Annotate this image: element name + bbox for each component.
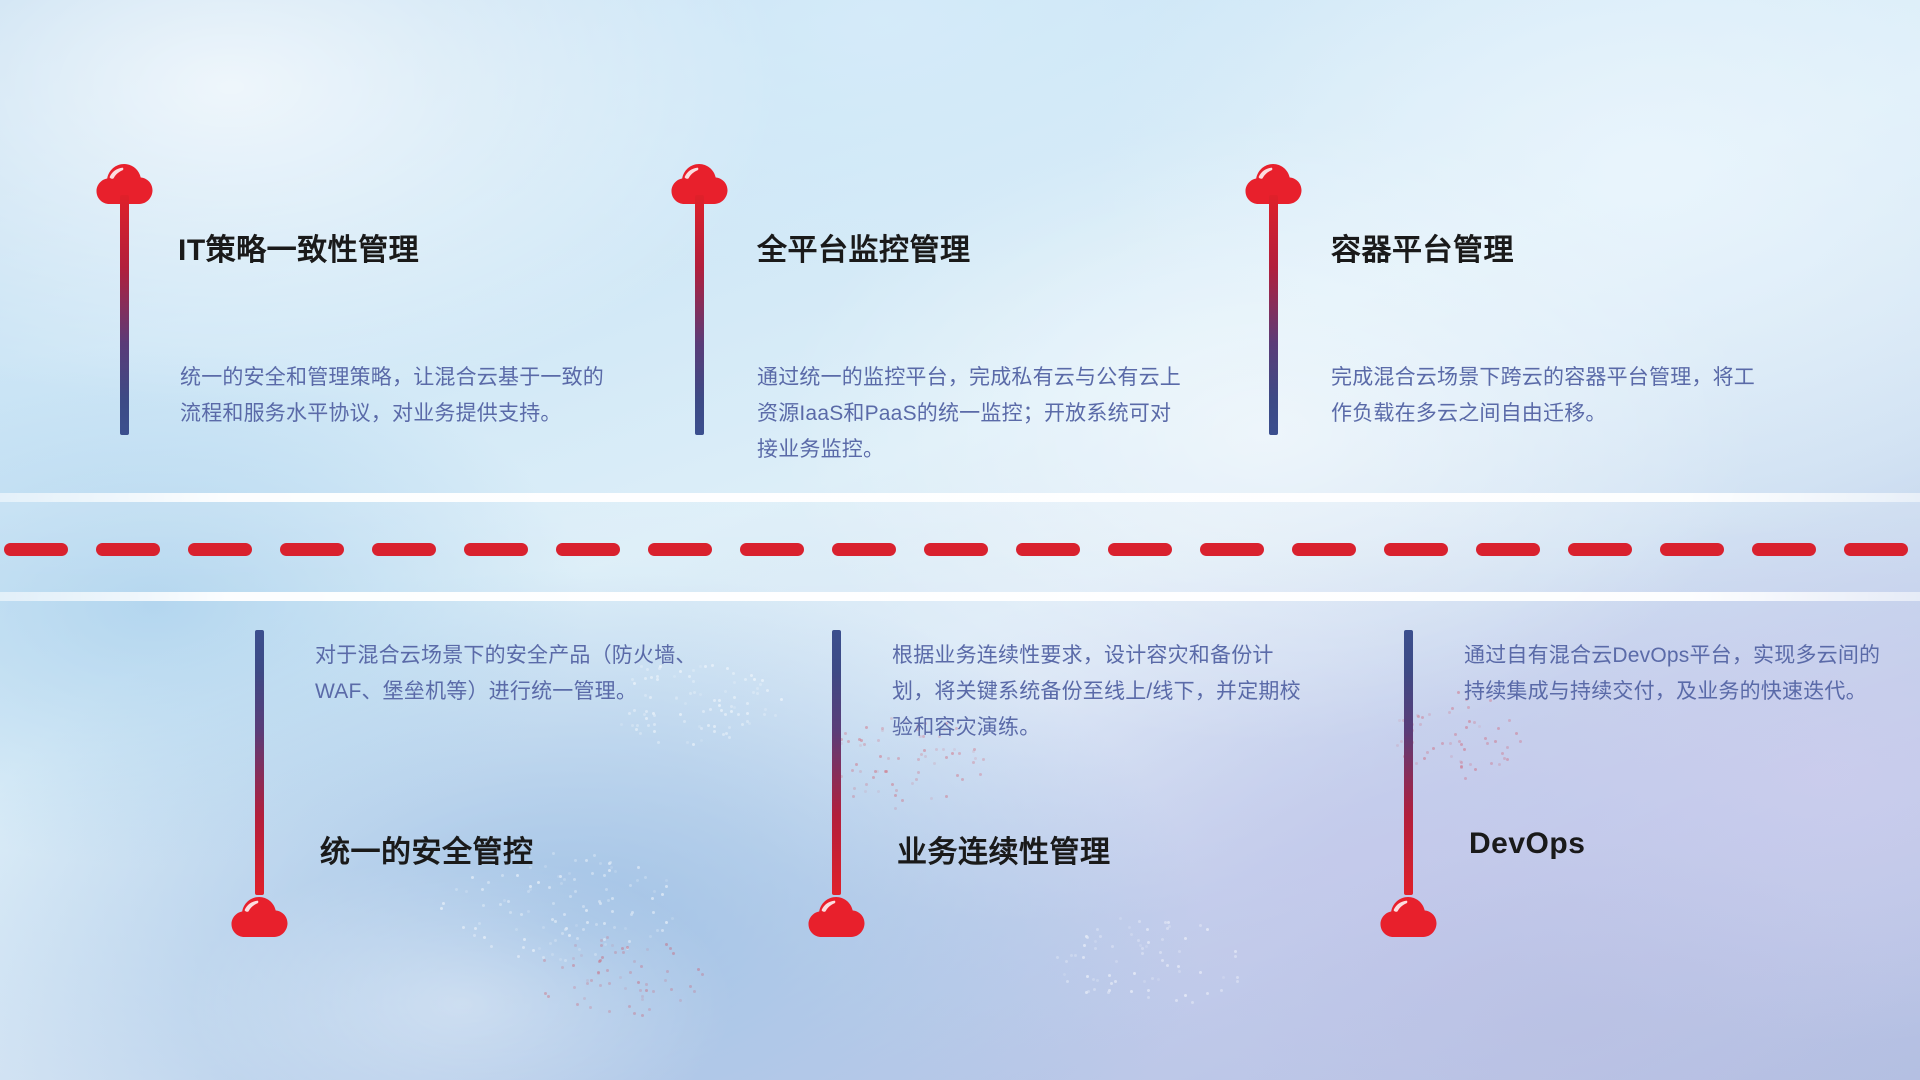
road-dash [464,543,528,556]
road-dash [1476,543,1540,556]
road-dash [1568,543,1632,556]
cloud-icon [231,893,289,939]
card-heading: DevOps [1469,827,1585,861]
road-dash [1384,543,1448,556]
road-dash [924,543,988,556]
cloud-icon [808,893,866,939]
card-heading: 业务连续性管理 [897,827,1111,871]
road-dashed-centerline [0,543,1920,556]
road-dash [1200,543,1264,556]
road-dash [1660,543,1724,556]
road-dash [1844,543,1908,556]
road-dash [372,543,436,556]
card-body-text: 通过统一的监控平台，完成私有云与公有云上资源IaaS和PaaS的统一监控；开放系… [757,360,1192,468]
connector-stem [832,630,841,895]
road-dash [1108,543,1172,556]
road-dash [96,543,160,556]
road-dash [648,543,712,556]
road-dash [1752,543,1816,556]
card-heading: 全平台监控管理 [757,225,971,269]
connector-stem [1404,630,1413,895]
card-body-text: 统一的安全和管理策略，让混合云基于一致的流程和服务水平协议，对业务提供支持。 [180,360,610,432]
card-body-text: 根据业务连续性要求，设计容灾和备份计划，将关键系统备份至线上/线下，并定期校验和… [892,638,1312,746]
road-edge-bottom [0,592,1920,601]
connector-stem [120,195,129,435]
road-dash [1292,543,1356,556]
card-heading: 容器平台管理 [1331,225,1514,269]
road-dash [556,543,620,556]
connector-stem [1269,195,1278,435]
card-body-text: 完成混合云场景下跨云的容器平台管理，将工作负载在多云之间自由迁移。 [1331,360,1756,432]
road-dash [740,543,804,556]
road-dash [832,543,896,556]
card-body-text: 对于混合云场景下的安全产品（防火墙、WAF、堡垒机等）进行统一管理。 [315,638,735,710]
road-dash [4,543,68,556]
card-heading: 统一的安全管控 [320,827,534,871]
card-heading: IT策略一致性管理 [178,225,419,269]
connector-stem [255,630,264,895]
connector-stem [695,195,704,435]
road-dash [1016,543,1080,556]
road-dash [188,543,252,556]
road-edge-top [0,493,1920,502]
cloud-icon [1380,893,1438,939]
road-dash [280,543,344,556]
card-body-text: 通过自有混合云DevOps平台，实现多云间的持续集成与持续交付，及业务的快速迭代… [1464,638,1884,710]
